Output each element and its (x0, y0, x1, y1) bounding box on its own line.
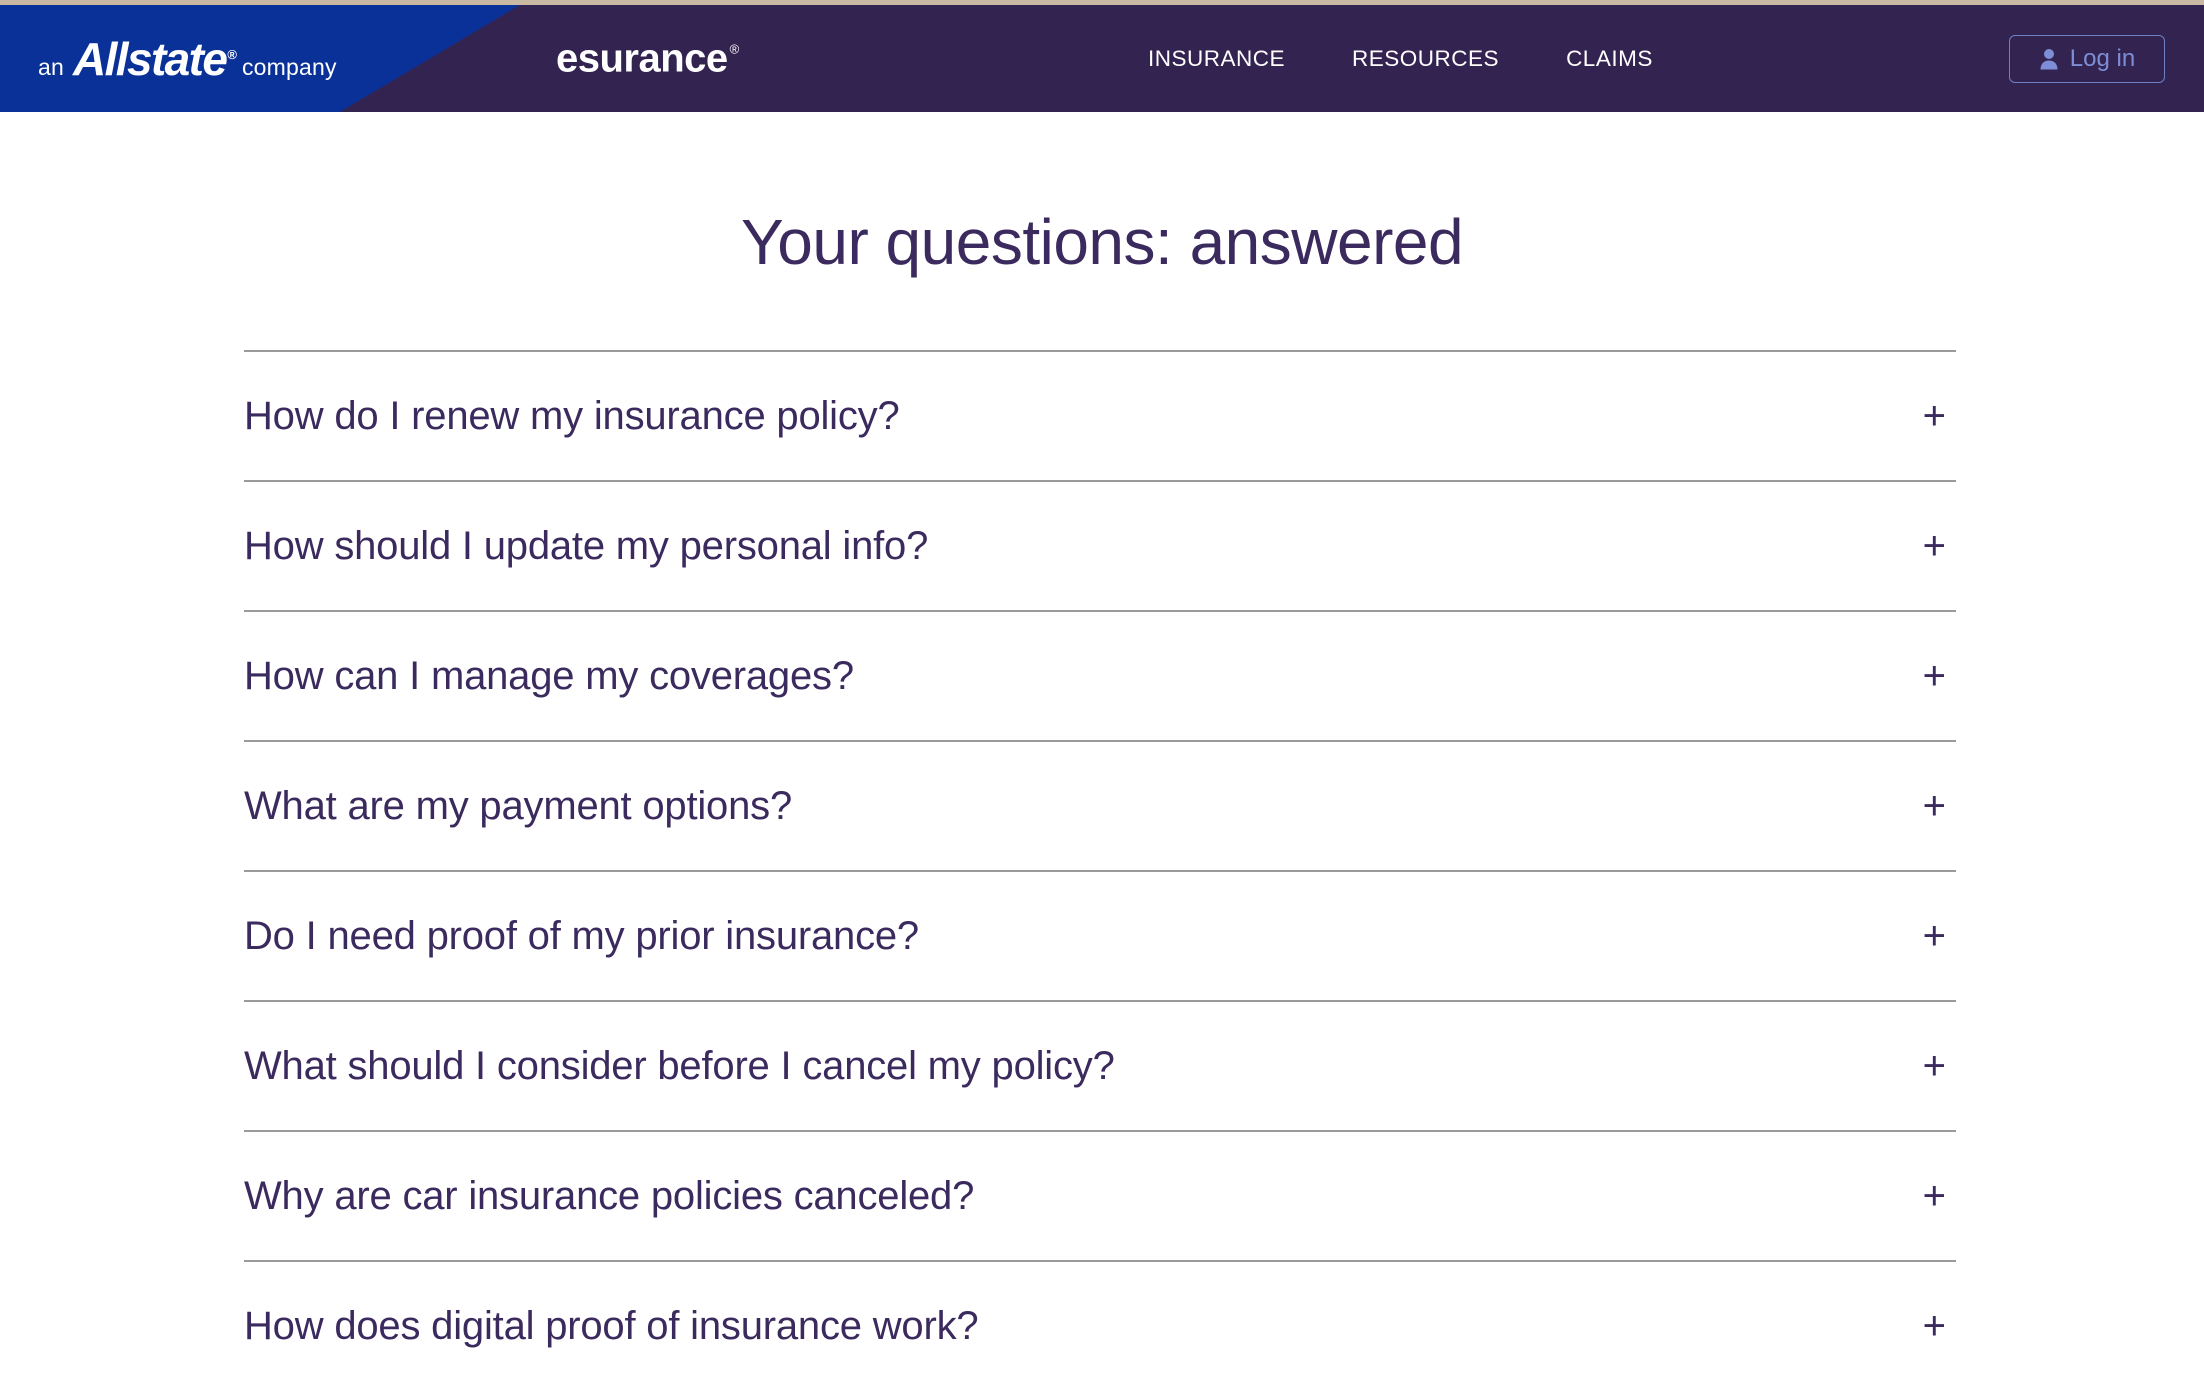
person-icon (2039, 48, 2059, 70)
faq-question-label: What are my payment options? (244, 784, 792, 829)
nav-link-insurance[interactable]: INSURANCE (1148, 46, 1285, 72)
nav-link-resources[interactable]: RESOURCES (1352, 46, 1499, 72)
faq-question-label: How should I update my personal info? (244, 524, 928, 569)
faq-item-before-cancel-policy[interactable]: What should I consider before I cancel m… (244, 1002, 1956, 1130)
page-title: Your questions: answered (0, 205, 2204, 279)
nav-link-claims[interactable]: CLAIMS (1566, 46, 1653, 72)
esurance-registered-mark: ® (730, 41, 740, 56)
faq-accordion: How do I renew my insurance policy? + Ho… (244, 350, 1956, 1390)
allstate-prefix-text: an (38, 54, 64, 81)
faq-item-payment-options[interactable]: What are my payment options? + (244, 742, 1956, 870)
plus-icon[interactable]: + (1923, 1176, 1946, 1216)
allstate-registered-mark: ® (227, 47, 237, 62)
plus-icon[interactable]: + (1923, 1306, 1946, 1346)
plus-icon[interactable]: + (1923, 786, 1946, 826)
login-button-label: Log in (2070, 45, 2135, 73)
esurance-logo[interactable]: esurance ® (556, 36, 739, 81)
login-button[interactable]: Log in (2009, 35, 2165, 83)
faq-item-proof-prior-insurance[interactable]: Do I need proof of my prior insurance? + (244, 872, 1956, 1000)
faq-question-label: Do I need proof of my prior insurance? (244, 914, 919, 959)
faq-item-why-policies-canceled[interactable]: Why are car insurance policies canceled?… (244, 1132, 1956, 1260)
allstate-logo[interactable]: an Allstate ® company (38, 32, 337, 86)
plus-icon[interactable]: + (1923, 1046, 1946, 1086)
site-header: an Allstate ® company esurance ® INSURAN… (0, 5, 2204, 112)
faq-question-label: How does digital proof of insurance work… (244, 1304, 978, 1349)
top-accent-strip (0, 0, 2204, 5)
faq-question-label: How can I manage my coverages? (244, 654, 854, 699)
faq-item-digital-proof-insurance[interactable]: How does digital proof of insurance work… (244, 1262, 1956, 1390)
esurance-wordmark: esurance (556, 36, 728, 81)
plus-icon[interactable]: + (1923, 916, 1946, 956)
allstate-suffix-text: company (242, 54, 337, 81)
allstate-company-panel: an Allstate ® company (0, 5, 520, 112)
faq-question-label: How do I renew my insurance policy? (244, 394, 900, 439)
faq-question-label: What should I consider before I cancel m… (244, 1044, 1115, 1089)
faq-question-label: Why are car insurance policies canceled? (244, 1174, 974, 1219)
plus-icon[interactable]: + (1923, 526, 1946, 566)
plus-icon[interactable]: + (1923, 396, 1946, 436)
faq-item-update-personal-info[interactable]: How should I update my personal info? + (244, 482, 1956, 610)
faq-item-renew-policy[interactable]: How do I renew my insurance policy? + (244, 352, 1956, 480)
page-main: Your questions: answered How do I renew … (0, 112, 2204, 1390)
allstate-wordmark: Allstate (73, 32, 226, 86)
plus-icon[interactable]: + (1923, 656, 1946, 696)
faq-item-manage-coverages[interactable]: How can I manage my coverages? + (244, 612, 1956, 740)
primary-navigation: INSURANCE RESOURCES CLAIMS (1148, 5, 1653, 112)
